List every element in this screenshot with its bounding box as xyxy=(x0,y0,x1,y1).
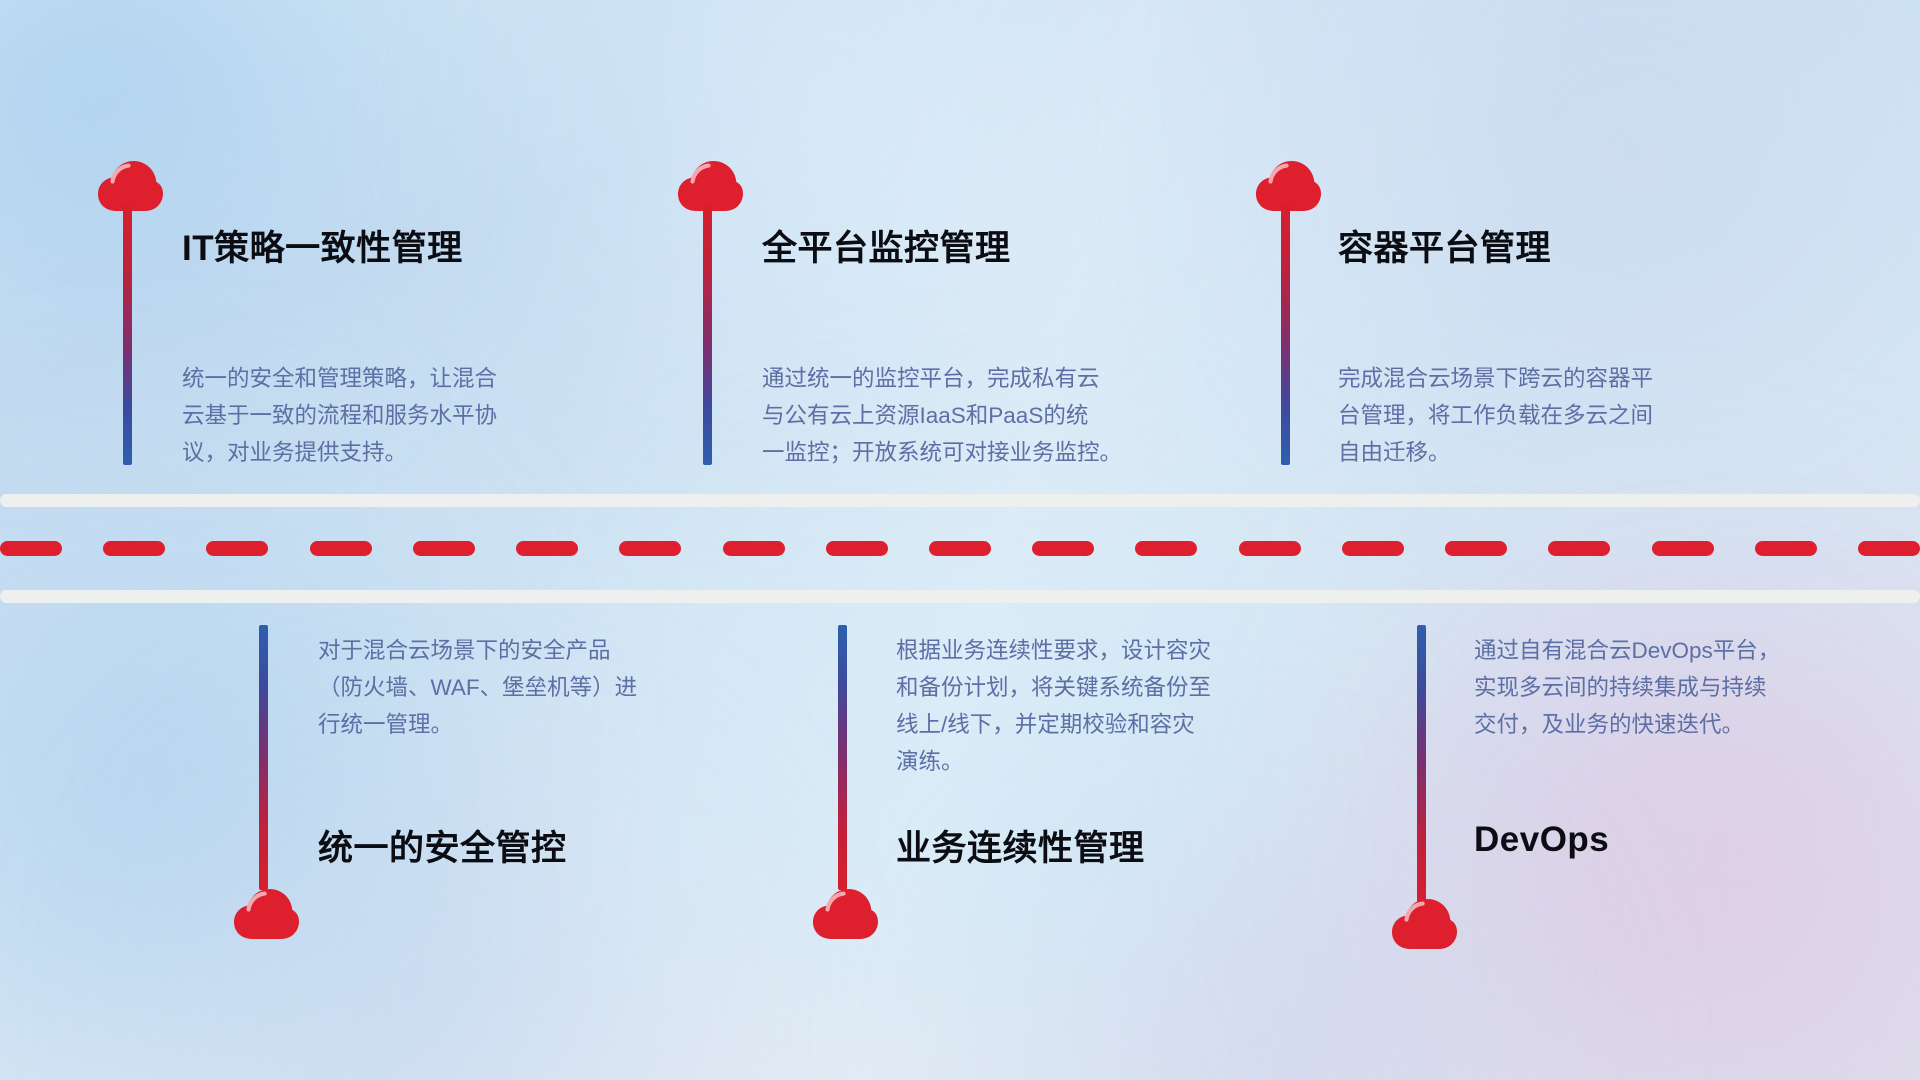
infographic-canvas: IT策略一致性管理 统一的安全和管理策略，让混合 云基于一致的流程和服务水平协 … xyxy=(0,0,1920,1080)
top-item-heading: 容器平台管理 xyxy=(1338,220,1551,271)
bottom-item-body: 对于混合云场景下的安全产品 （防火墙、WAF、堡垒机等）进 行统一管理。 xyxy=(318,632,748,743)
road-dash xyxy=(1548,541,1610,556)
road-dash xyxy=(1755,541,1817,556)
road-dash xyxy=(413,541,475,556)
road-dash xyxy=(103,541,165,556)
road-edge-top xyxy=(0,494,1920,507)
road-dash xyxy=(826,541,888,556)
road-dash xyxy=(0,541,62,556)
bottom-item-body: 通过自有混合云DevOps平台， 实现多云间的持续集成与持续 交付，及业务的快速… xyxy=(1474,632,1904,743)
road-edge-bottom xyxy=(0,590,1920,603)
road-dash xyxy=(1135,541,1197,556)
top-item-heading: IT策略一致性管理 xyxy=(182,220,463,271)
road-dash xyxy=(619,541,681,556)
cloud-icon xyxy=(811,888,879,940)
road-dash xyxy=(1239,541,1301,556)
timeline-stem xyxy=(123,205,132,465)
timeline-stem xyxy=(1417,625,1426,910)
road-dash xyxy=(1032,541,1094,556)
bottom-item-heading: DevOps xyxy=(1474,820,1609,860)
road-dash xyxy=(310,541,372,556)
bottom-item-heading: 业务连续性管理 xyxy=(896,820,1145,871)
timeline-stem xyxy=(1281,205,1290,465)
road-dash xyxy=(516,541,578,556)
top-item-body: 完成混合云场景下跨云的容器平 台管理，将工作负载在多云之间 自由迁移。 xyxy=(1338,360,1788,471)
road-dash xyxy=(929,541,991,556)
road-center-dashes xyxy=(0,541,1920,556)
bottom-item-heading: 统一的安全管控 xyxy=(318,820,567,871)
top-item-body: 通过统一的监控平台，完成私有云 与公有云上资源IaaS和PaaS的统 一监控；开… xyxy=(762,360,1232,471)
road-dash xyxy=(723,541,785,556)
top-item-heading: 全平台监控管理 xyxy=(762,220,1011,271)
top-item-body: 统一的安全和管理策略，让混合 云基于一致的流程和服务水平协 议，对业务提供支持。 xyxy=(182,360,612,471)
bottom-item-body: 根据业务连续性要求，设计容灾 和备份计划，将关键系统备份至 线上/线下，并定期校… xyxy=(896,632,1326,780)
road-dash xyxy=(1445,541,1507,556)
road-dash xyxy=(1858,541,1920,556)
timeline-stem xyxy=(259,625,268,890)
timeline-stem xyxy=(703,205,712,465)
road-dash xyxy=(206,541,268,556)
road-dash xyxy=(1652,541,1714,556)
timeline-stem xyxy=(838,625,847,890)
road-dash xyxy=(1342,541,1404,556)
cloud-icon xyxy=(232,888,300,940)
cloud-icon xyxy=(1390,898,1458,950)
